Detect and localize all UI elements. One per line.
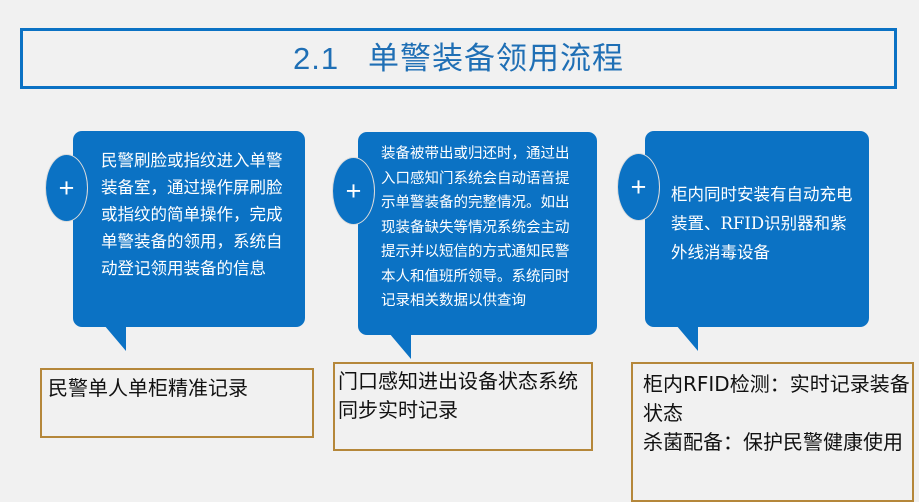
plus-icon-1[interactable]: + <box>45 154 88 222</box>
callout-bubble-3-tail <box>676 325 698 351</box>
plus-icon-3[interactable]: + <box>617 153 660 221</box>
callout-bubble-1: 民警刷脸或指纹进入单警装备室，通过操作屏刷脸或指纹的简单操作，完成单警装备的领用… <box>73 131 305 327</box>
callout-bubble-2-tail <box>389 333 411 359</box>
caption-box-3: 柜内RFID检测：实时记录装备状态 杀菌配备：保护民警健康使用 <box>631 362 914 502</box>
callout-bubble-3: 柜内同时安装有自动充电装置、RFID识别器和紫外线消毒设备 <box>645 131 869 327</box>
caption-box-1-text: 民警单人单柜精准记录 <box>48 374 304 403</box>
plus-icon-2[interactable]: + <box>332 157 375 225</box>
caption-box-3-text: 柜内RFID检测：实时记录装备状态 杀菌配备：保护民警健康使用 <box>643 370 911 457</box>
slide-canvas: 2.1 单警装备领用流程 民警刷脸或指纹进入单警装备室，通过操作屏刷脸或指纹的简… <box>0 0 919 491</box>
caption-box-2-text: 门口感知进出设备状态系统同步实时记录 <box>338 367 590 425</box>
caption-box-1: 民警单人单柜精准记录 <box>40 368 314 438</box>
callout-bubble-1-tail <box>104 325 126 351</box>
callout-bubble-2-text: 装备被带出或归还时，通过出入口感知门系统会自动语音提示单警装备的完整情况。如出现… <box>381 142 578 314</box>
caption-box-2: 门口感知进出设备状态系统同步实时记录 <box>333 362 593 451</box>
callout-bubble-3-text: 柜内同时安装有自动充电装置、RFID识别器和紫外线消毒设备 <box>671 180 856 267</box>
slide-title-box: 2.1 单警装备领用流程 <box>20 28 897 89</box>
callout-bubble-2: 装备被带出或归还时，通过出入口感知门系统会自动语音提示单警装备的完整情况。如出现… <box>358 132 597 335</box>
callout-bubble-1-text: 民警刷脸或指纹进入单警装备室，通过操作屏刷脸或指纹的简单操作，完成单警装备的领用… <box>101 147 291 282</box>
page-title: 2.1 单警装备领用流程 <box>293 43 624 74</box>
